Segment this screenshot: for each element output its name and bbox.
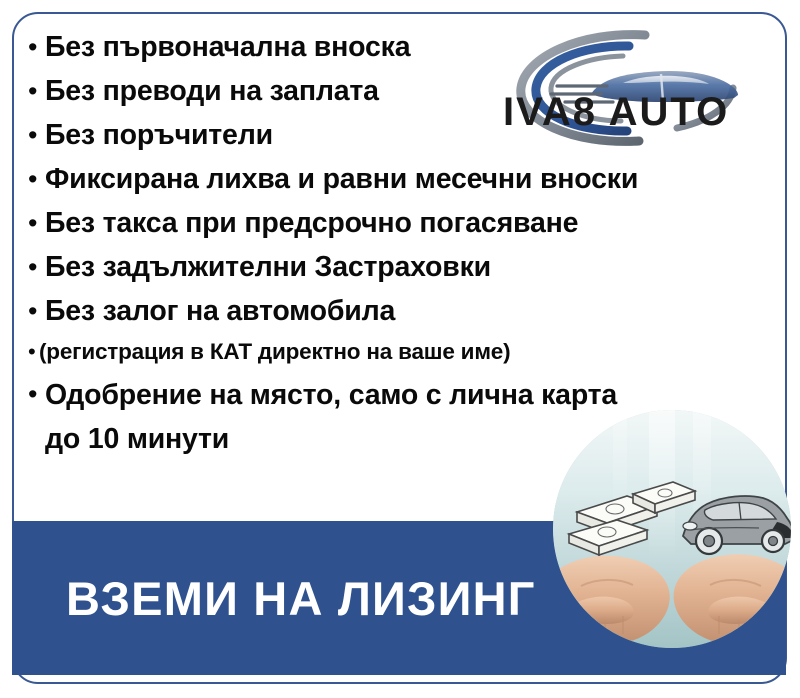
benefit-text: Без задължителни Застраховки (45, 246, 776, 288)
benefit-text: Без такса при предсрочно погасяване (45, 202, 776, 244)
hero-photo-hands-money-car (553, 410, 791, 648)
benefit-text: Фиксирана лихва и равни месечни вноски (45, 158, 776, 200)
bullet-icon: • (28, 158, 45, 200)
bullet-icon: • (28, 26, 45, 68)
bullet-icon: • (28, 70, 45, 112)
brand-logo: IVA8 AUTO (495, 28, 760, 148)
list-item: • Без такса при предсрочно погасяване (28, 202, 776, 245)
bullet-icon: • (28, 290, 45, 332)
list-item-note: • (регистрация в КАТ директно на ваше им… (28, 334, 776, 372)
list-item: • Фиксирана лихва и равни месечни вноски (28, 158, 776, 201)
benefit-text: Без залог на автомобила (45, 290, 776, 332)
advertisement-canvas: • Без първоначална вноска • Без преводи … (0, 0, 800, 698)
bullet-icon: • (28, 334, 39, 370)
logo-wordmark: IVA8 AUTO (503, 90, 729, 134)
benefit-note-text: (регистрация в КАТ директно на ваше име) (39, 334, 776, 370)
list-item: • Без задължителни Застраховки (28, 246, 776, 289)
bullet-icon: • (28, 202, 45, 244)
list-item: • Без залог на автомобила (28, 290, 776, 333)
cta-headline: ВЗЕМИ НА ЛИЗИНГ (66, 575, 536, 622)
bullet-icon: • (28, 114, 45, 156)
bullet-icon: • (28, 373, 45, 415)
bullet-icon: • (28, 246, 45, 288)
